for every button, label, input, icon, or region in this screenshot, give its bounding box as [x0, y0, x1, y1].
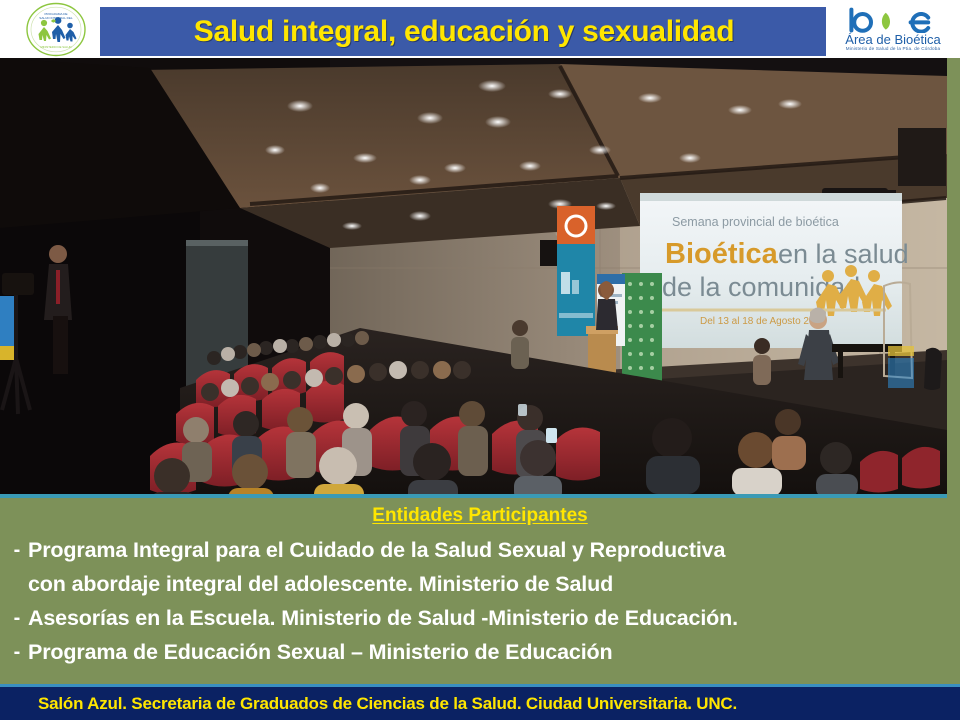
list-item-line1: Programa Integral para el Cuidado de la … [28, 538, 725, 562]
list-item-text: Programa Integral para el Cuidado de la … [28, 533, 725, 601]
bie-logo-subtitle: Ministerio de Salud de la Ptia. de Córdo… [846, 47, 940, 52]
programa-salud-integral-adolescente-seal-icon: PROGRAMA DE SALUD INTEGRAL DEL MINISTERI… [22, 2, 90, 57]
auditorium-photo: Semana provincial de bioética Bioética e… [0, 58, 947, 494]
presentation-slide: PROGRAMA DE SALUD INTEGRAL DEL MINISTERI… [0, 0, 960, 720]
list-bullet: - [6, 601, 28, 635]
list-item-text: Programa de Educación Sexual – Ministeri… [28, 635, 613, 669]
list-item: - Asesorías en la Escuela. Ministerio de… [0, 601, 960, 635]
list-item-text: Asesorías en la Escuela. Ministerio de S… [28, 601, 738, 635]
bie-logo-label: Área de Bioética [845, 33, 940, 47]
bie-mark-icon [845, 7, 941, 33]
venue-footer-bar: Salón Azul. Secretaria de Graduados de C… [0, 687, 960, 720]
entidades-participantes-panel: Entidades Participantes - Programa Integ… [0, 498, 960, 684]
area-de-bioetica-logo: Área de Bioética Ministerio de Salud de … [826, 0, 960, 58]
list-item: - Programa de Educación Sexual – Ministe… [0, 635, 960, 669]
svg-text:MINISTERIO DE SALUD: MINISTERIO DE SALUD [40, 45, 71, 49]
list-bullet: - [6, 533, 28, 567]
list-item-line1: Programa de Educación Sexual – Ministeri… [28, 640, 613, 664]
svg-text:Del 13 al 18 de Agosto 20: Del 13 al 18 de Agosto 20 [700, 316, 815, 327]
list-item: - Programa Integral para el Cuidado de l… [0, 533, 960, 601]
svg-text:en la salud: en la salud [778, 239, 909, 269]
list-item-line1: Asesorías en la Escuela. Ministerio de S… [28, 606, 738, 630]
list-item-line2: con abordaje integral del adolescente. M… [28, 567, 725, 601]
slide-header: PROGRAMA DE SALUD INTEGRAL DEL MINISTERI… [0, 0, 960, 58]
svg-text:Semana provincial de bioética: Semana provincial de bioética [672, 215, 839, 229]
svg-text:Bioética: Bioética [665, 238, 779, 270]
entidades-heading: Entidades Participantes [0, 504, 960, 529]
page-title: Salud integral, educación y sexualidad [194, 17, 734, 47]
list-bullet: - [6, 635, 28, 669]
venue-footer-text: Salón Azul. Secretaria de Graduados de C… [0, 695, 737, 712]
slide-title-banner: Salud integral, educación y sexualidad [100, 7, 828, 56]
